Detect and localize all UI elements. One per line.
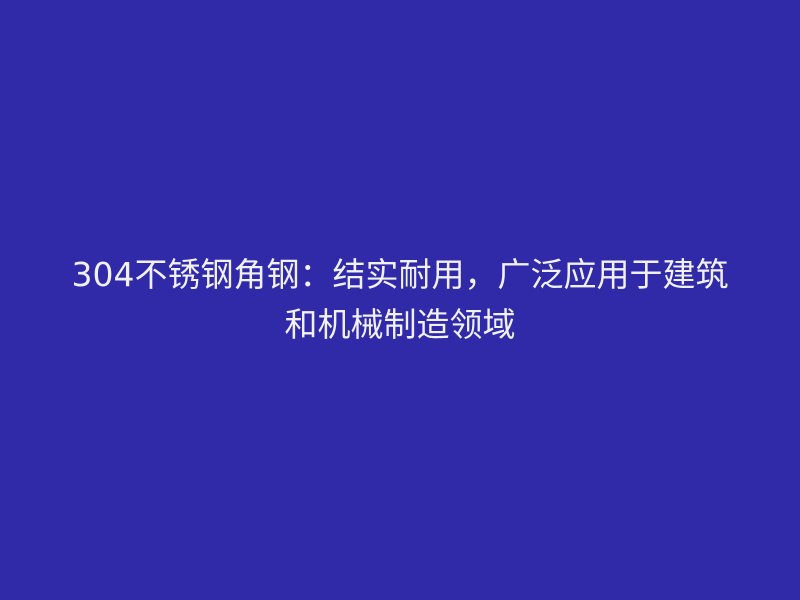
page-title: 304不锈钢角钢：结实耐用，广泛应用于建筑和机械制造领域: [56, 250, 744, 350]
headline-block: 304不锈钢角钢：结实耐用，广泛应用于建筑和机械制造领域: [56, 250, 744, 350]
banner-canvas: 304不锈钢角钢：结实耐用，广泛应用于建筑和机械制造领域: [0, 0, 800, 600]
